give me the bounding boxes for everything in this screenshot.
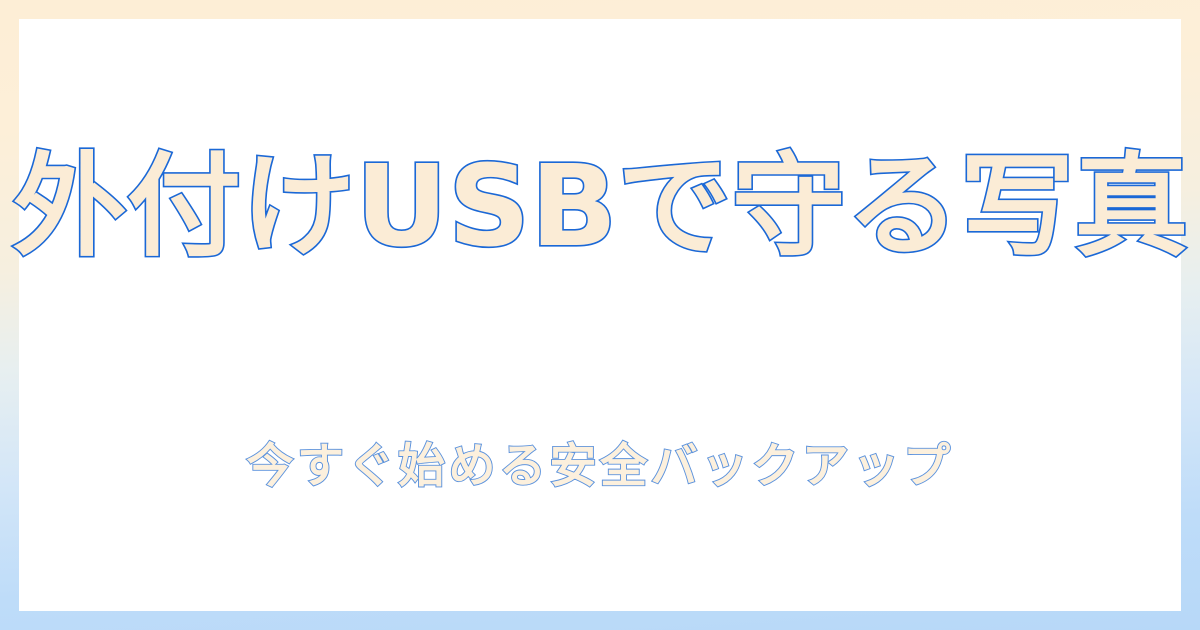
subheadline-container: 今すぐ始める安全バックアップ xyxy=(19,392,1181,542)
headline-container: 外付けUSBで守る写真 xyxy=(19,70,1181,346)
page-subtitle: 今すぐ始める安全バックアップ xyxy=(247,439,954,495)
poster-content: 外付けUSBで守る写真 今すぐ始める安全バックアップ xyxy=(19,19,1181,611)
page-title: 外付けUSBで守る写真 xyxy=(12,145,1188,270)
inner-white-card: 外付けUSBで守る写真 今すぐ始める安全バックアップ xyxy=(19,19,1181,611)
poster-canvas: 外付けUSBで守る写真 今すぐ始める安全バックアップ xyxy=(0,0,1200,630)
